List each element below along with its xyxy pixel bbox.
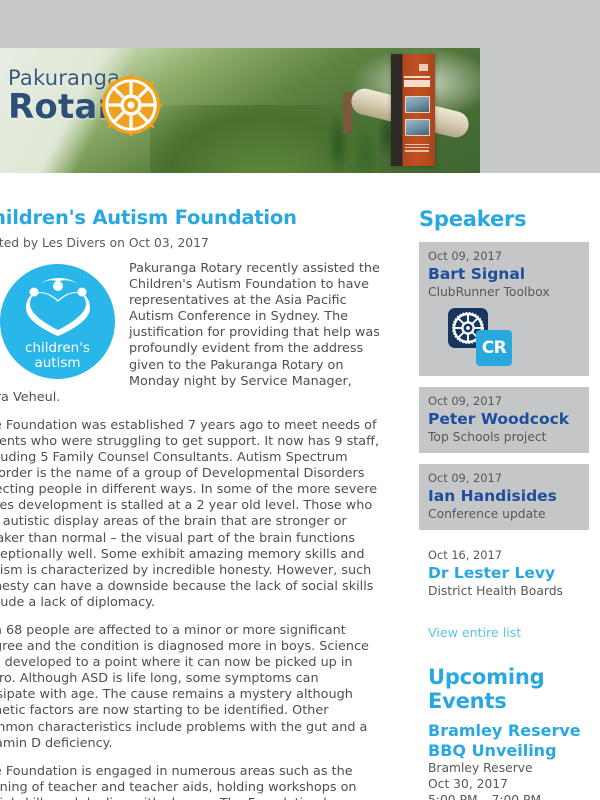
article-paragraph: The Foundation is engaged in numerous ar… — [0, 764, 380, 800]
speaker-date: Oct 09, 2017 — [428, 394, 581, 409]
sign-footer-lines — [405, 144, 429, 152]
sign-photo-2 — [405, 119, 430, 136]
speaker-topic: District Health Boards — [428, 583, 581, 599]
autism-family-glyph — [22, 278, 94, 338]
sign-title-lines — [404, 76, 430, 87]
speaker-topic: Top Schools project — [428, 429, 581, 445]
speakers-heading: Speakers — [419, 173, 600, 231]
speaker-logos: CR — [428, 306, 581, 368]
children-autism-logo-icon: children's autism — [0, 264, 115, 379]
speaker-date: Oct 16, 2017 — [428, 548, 581, 563]
article-paragraph: 1 in 68 people are affected to a minor o… — [0, 623, 380, 752]
speaker-name[interactable]: Bart Signal — [428, 265, 581, 284]
event-item[interactable]: Bramley Reserve BBQ Unveiling Bramley Re… — [428, 721, 600, 800]
event-title[interactable]: Bramley Reserve BBQ Unveiling — [428, 721, 600, 760]
speaker-date: Oct 09, 2017 — [428, 249, 581, 264]
speaker-name[interactable]: Peter Woodcock — [428, 410, 581, 429]
speaker-name[interactable]: Ian Handisides — [428, 487, 581, 506]
event-location: Bramley Reserve — [428, 760, 600, 776]
speaker-card[interactable]: Oct 09, 2017 Ian Handisides Conference u… — [419, 464, 589, 530]
speaker-date: Oct 09, 2017 — [428, 471, 581, 486]
autism-logo-text: children's autism — [0, 341, 115, 370]
speaker-name[interactable]: Dr Lester Levy — [428, 564, 581, 583]
banner-park-sign — [391, 54, 435, 166]
sidebar: Speakers Oct 09, 2017 Bart Signal ClubRu… — [419, 173, 600, 800]
event-time: 5:00 PM – 7:00 PM — [428, 792, 600, 800]
speaker-card[interactable]: Oct 09, 2017 Peter Woodcock Top Schools … — [419, 387, 589, 453]
page-title: Children's Autism Foundation — [0, 206, 380, 229]
rotary-wheel-icon — [100, 74, 162, 136]
speaker-topic: Conference update — [428, 506, 581, 522]
speaker-topic: ClubRunner Toolbox — [428, 284, 581, 300]
sign-logo-icon — [419, 64, 428, 71]
site-banner: Pakuranga Rotary — [0, 48, 480, 173]
sign-photo-1 — [405, 96, 430, 113]
autism-logo-line-2: autism — [34, 355, 80, 371]
page-root: Pakuranga Rotary — [0, 0, 600, 800]
speaker-card[interactable]: Oct 16, 2017 Dr Lester Levy District Hea… — [419, 541, 589, 607]
content-area: Children's Autism Foundation Posted by L… — [0, 173, 600, 800]
article-byline: Posted by Les Divers on Oct 03, 2017 — [0, 236, 380, 250]
article-paragraph: The Foundation was established 7 years a… — [0, 418, 380, 611]
view-entire-list-link[interactable]: View entire list — [428, 625, 600, 640]
event-date: Oct 30, 2017 — [428, 776, 600, 792]
speaker-card[interactable]: Oct 09, 2017 Bart Signal ClubRunner Tool… — [419, 242, 589, 376]
article-body: children's autism Pakuranga Rotary recen… — [0, 261, 380, 800]
clubrunner-badge-icon: CR — [476, 330, 512, 366]
upcoming-events-heading: Upcoming Events — [428, 665, 600, 713]
article-column: Children's Autism Foundation Posted by L… — [0, 173, 398, 800]
